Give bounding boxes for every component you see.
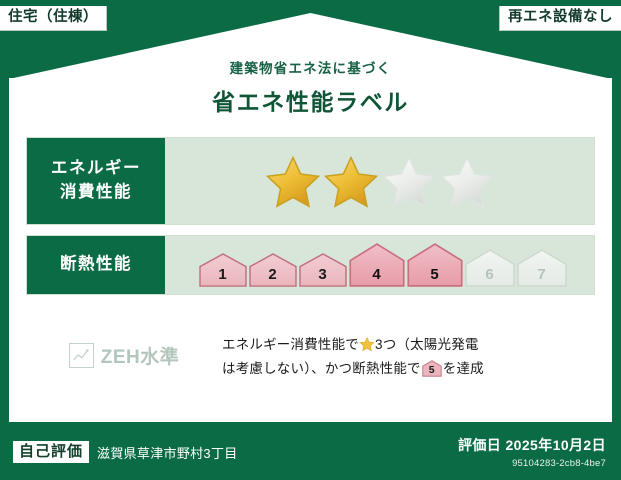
page-title: 建築物省エネ法に基づく 省エネ性能ラベル — [0, 57, 621, 117]
property-address: 滋賀県草津市野村3丁目 — [97, 443, 238, 462]
description-part-3: は考慮しない）、かつ断熱性能で — [222, 361, 421, 376]
insulation-label: 断熱性能 — [60, 253, 132, 277]
insulation-level-badge: 2 — [249, 253, 297, 287]
energy-performance-value — [165, 138, 594, 224]
energy-performance-row: エネルギー 消費性能 — [26, 137, 595, 225]
star-empty-icon — [439, 154, 495, 208]
insulation-level-badge: 3 — [299, 253, 347, 287]
energy-label-line1: エネルギー — [51, 157, 141, 181]
insulation-level-number: 4 — [349, 267, 405, 282]
evaluation-date-value: 2025年10月2日 — [505, 437, 606, 453]
title-subtitle: 建築物省エネ法に基づく — [0, 57, 621, 77]
performance-rows: エネルギー 消費性能 断熱性能 1234567 — [26, 137, 595, 295]
insulation-level-badge: 1 — [199, 253, 247, 287]
insulation-level-scale: 1234567 — [193, 243, 567, 287]
zeh-description-area: ZEH水準 エネルギー消費性能で3つ（太陽光発電は考慮しない）、かつ断熱性能で5… — [26, 330, 595, 380]
achievement-description: エネルギー消費性能で3つ（太陽光発電は考慮しない）、かつ断熱性能で5を達成 — [222, 330, 595, 380]
energy-performance-label: 住宅（住棟） 再エネ設備なし 建築物省エネ法に基づく 省エネ性能ラベル エネルギ… — [0, 0, 621, 480]
insulation-level-badge: 5 — [407, 243, 463, 287]
description-part-1: エネルギー消費性能で — [222, 337, 359, 352]
insulation-level-number: 7 — [517, 267, 567, 282]
footer-left-group: 自己評価 滋賀県草津市野村3丁目 — [13, 441, 238, 463]
inline-star-icon — [359, 336, 375, 352]
building-type-tag: 住宅（住棟） — [0, 6, 107, 31]
insulation-level-badge: 6 — [465, 249, 515, 287]
zeh-label: ZEH水準 — [101, 342, 180, 369]
insulation-performance-row: 断熱性能 1234567 — [26, 235, 595, 295]
zeh-badge: ZEH水準 — [26, 330, 222, 369]
title-main: 省エネ性能ラベル — [0, 83, 621, 117]
renewable-energy-tag: 再エネ設備なし — [499, 6, 621, 31]
star-rating — [265, 154, 495, 208]
evaluation-date: 評価日 2025年10月2日 — [458, 435, 606, 455]
insulation-level-badge: 4 — [349, 243, 405, 287]
footer-right-group: 評価日 2025年10月2日 95104283-2cb8-4be7 — [458, 435, 606, 469]
energy-performance-label-box: エネルギー 消費性能 — [27, 138, 165, 224]
star-filled-icon — [323, 154, 379, 208]
insulation-level-number: 6 — [465, 267, 515, 282]
description-part-4: を達成 — [443, 361, 484, 376]
star-filled-icon — [265, 154, 321, 208]
zeh-checkbox-icon — [69, 343, 94, 368]
insulation-level-number: 5 — [407, 267, 463, 282]
inline-house-badge: 5 — [422, 360, 442, 377]
insulation-performance-value: 1234567 — [165, 236, 594, 294]
evaluation-date-label: 評価日 — [458, 437, 501, 453]
description-part-2: 3つ（太陽光発電 — [375, 337, 479, 352]
self-evaluation-badge: 自己評価 — [13, 441, 89, 463]
insulation-level-number: 2 — [249, 267, 297, 282]
insulation-level-number: 3 — [299, 267, 347, 282]
star-empty-icon — [381, 154, 437, 208]
inline-house-number: 5 — [422, 365, 442, 376]
evaluation-id: 95104283-2cb8-4be7 — [458, 458, 606, 469]
insulation-level-number: 1 — [199, 267, 247, 282]
insulation-level-badge: 7 — [517, 249, 567, 287]
energy-label-line2: 消費性能 — [60, 181, 132, 205]
insulation-performance-label-box: 断熱性能 — [27, 236, 165, 294]
